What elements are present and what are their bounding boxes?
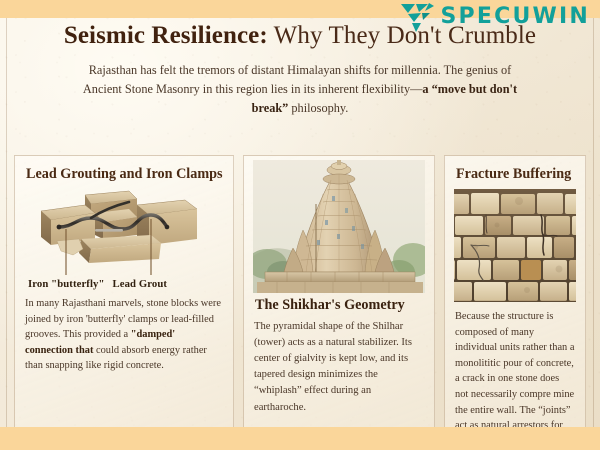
- subtitle-part-2: philosophy.: [288, 101, 348, 115]
- temple-shikhar-tower-illustration: [253, 160, 425, 293]
- header-block: Seismic Resilience: Why They Don't Crumb…: [0, 22, 600, 118]
- panel-body-lead-grouting: In many Rajasthani marvels, stone blocks…: [25, 296, 223, 374]
- masonry-wall-svg: [454, 189, 576, 302]
- origami-bird-icon: [399, 1, 435, 33]
- caption-iron-butterfly: Iron "butterfly": [28, 278, 105, 290]
- panel-title-lead-grouting: Lead Grouting and Iron Clamps: [26, 166, 224, 183]
- page-title-strong: Seismic Resilience:: [64, 22, 268, 49]
- brand-logo[interactable]: SPECUWIN: [399, 0, 590, 34]
- panel-title-shikhar-geometry: The Shikhar's Geometry: [255, 297, 425, 314]
- panel-shikhar-geometry: The Shikhar's Geometry The pyramidal sha…: [243, 155, 435, 450]
- panel-body-shikhar-geometry: The pyramidal shape of the Shilhar (towe…: [254, 319, 424, 416]
- panel-title-fracture-buffering: Fracture Buffering: [456, 166, 576, 183]
- stone-blocks-iron-clamp-diagram: [33, 189, 215, 277]
- slide-canvas: Seismic Resilience: Why They Don't Crumb…: [0, 0, 600, 450]
- bottom-accent-band: [0, 427, 600, 450]
- temple-svg: [253, 160, 425, 293]
- clamp-diagram-svg: [33, 189, 215, 277]
- origami-bird-svg: [399, 1, 435, 33]
- page-subtitle: Rajasthan has felt the tremors of distan…: [73, 61, 528, 118]
- cracked-stone-masonry-wall-photo: [454, 189, 576, 302]
- caption-lead-grout: Lead Grout: [113, 278, 168, 290]
- panels-row: Lead Grouting and Iron Clamps: [14, 155, 586, 450]
- panel-lead-grouting: Lead Grouting and Iron Clamps: [14, 155, 234, 450]
- brand-name: SPECUWIN: [441, 6, 590, 28]
- panel-fracture-buffering: Fracture Buffering: [444, 155, 586, 450]
- figure-caption-row: Iron "butterfly" Lead Grout: [28, 278, 224, 290]
- body-part-1: In many Rajasthani marvels, stone blocks…: [25, 298, 221, 340]
